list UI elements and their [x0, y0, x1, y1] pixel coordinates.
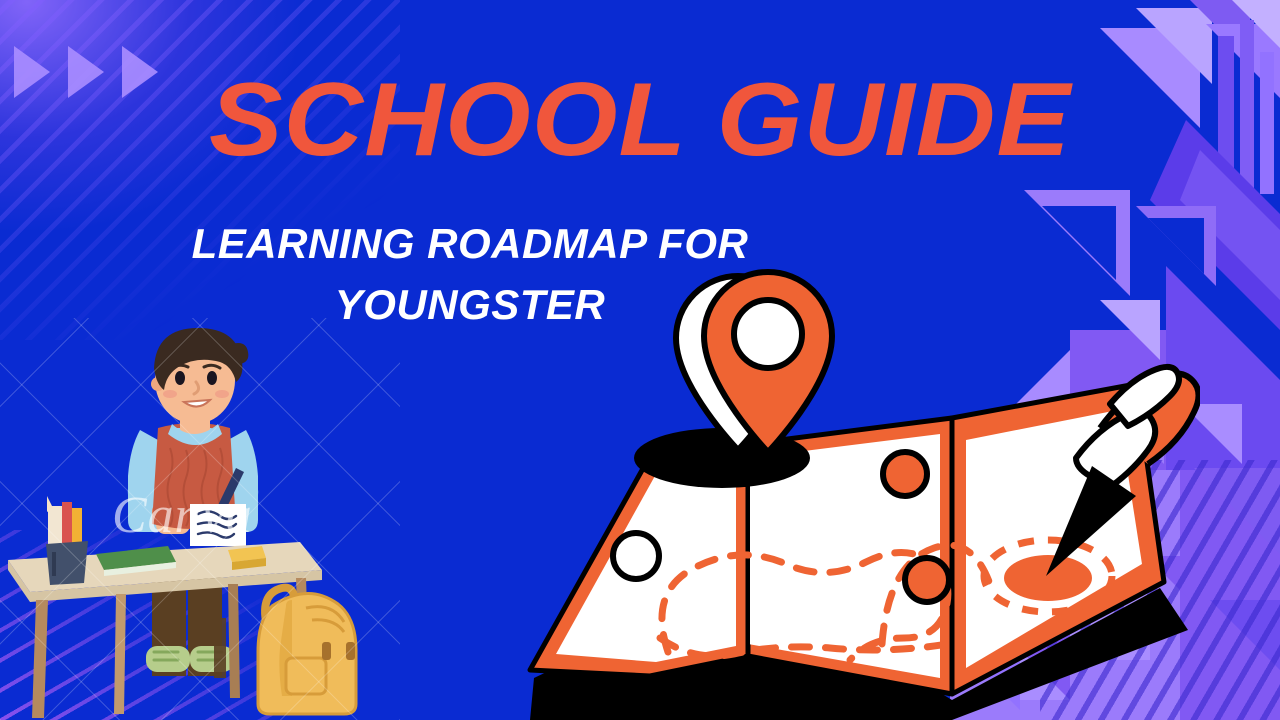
student-illustration-svg: [0, 318, 400, 720]
map-illustration: [500, 258, 1200, 720]
student-illustration: [0, 318, 400, 720]
destination-ellipse: [1004, 555, 1092, 601]
shoe-right: [190, 646, 234, 672]
location-pin-center: [734, 300, 802, 368]
route-node-top: [883, 452, 927, 496]
poster-canvas: SCHOOL GUIDE LEARNING ROADMAP FOR YOUNGS…: [0, 0, 1280, 720]
yellow-eraser: [228, 546, 266, 570]
outline-circle-marker: [613, 533, 659, 579]
shoe-left: [146, 646, 190, 672]
yellow-backpack: [258, 588, 356, 714]
page-title: SCHOOL GUIDE: [0, 68, 1280, 172]
map-illustration-svg: [500, 258, 1200, 720]
pencil-cup: [46, 496, 88, 585]
route-node-bottom: [905, 558, 949, 602]
